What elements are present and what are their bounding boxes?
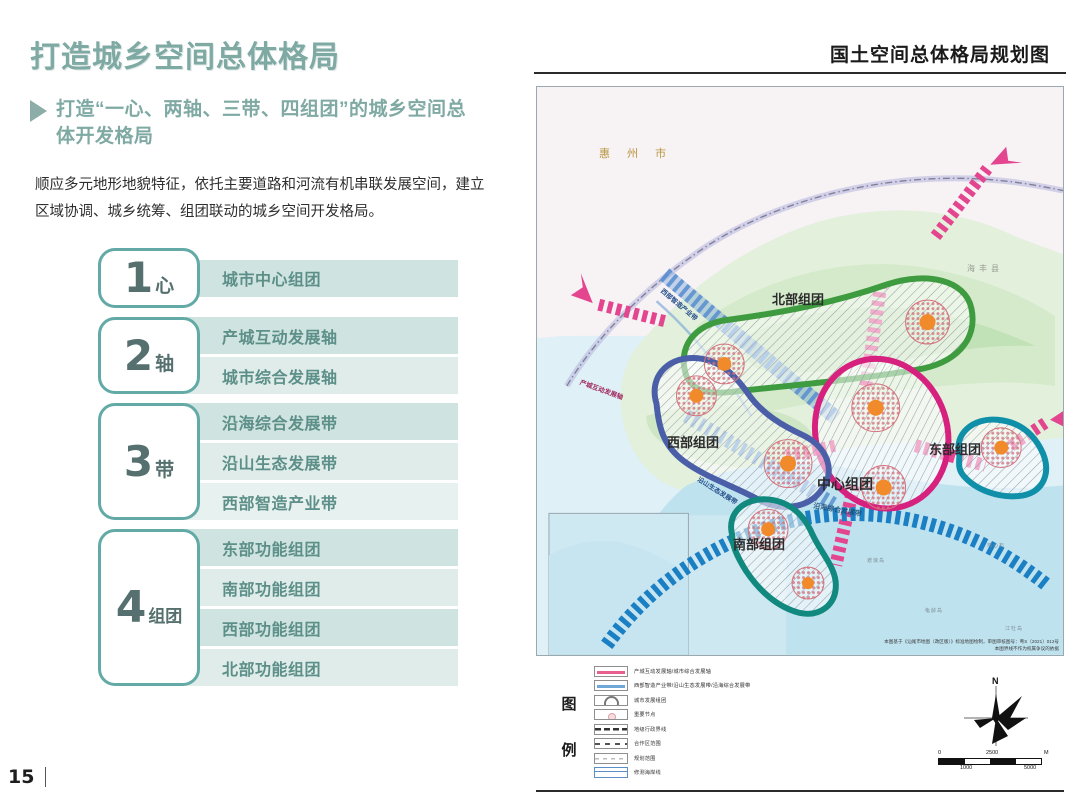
legend-item: 西部智造产业带/沿山生态发展带/沿海综合发展带 — [594, 679, 750, 694]
group-item: 2 轴 产城互动发展轴 城市综合发展轴 — [98, 317, 458, 394]
group-item: 4 组团 东部功能组团 南部功能组团 西部功能组团 北部功能组团 — [98, 529, 458, 686]
group-badge: 4 组团 — [98, 529, 200, 686]
bottom-divider — [536, 790, 1064, 792]
list-item[interactable]: 沿海综合发展带 — [186, 403, 458, 440]
group-rows: 产城互动发展轴 城市综合发展轴 — [186, 317, 458, 394]
legend-swatch-coop-zone-icon — [594, 738, 628, 749]
legend-swatch-plan-extent-icon — [594, 753, 628, 764]
list-item[interactable]: 城市中心组团 — [186, 260, 458, 297]
group-badge: 2 轴 — [98, 317, 200, 394]
legend-item: 修测海岸线 — [594, 766, 750, 781]
map-cluster-label-west: 西部组团 — [667, 432, 719, 451]
legend-item: 合作区范围 — [594, 737, 750, 752]
compass-and-scale: N 0 2500 M 1000 5000 — [936, 674, 1056, 782]
map-islet-label: 江牡岛 — [1005, 625, 1023, 632]
badge-number: 2 — [124, 335, 153, 377]
legend-item: 产城互动发展轴/城市综合发展轴 — [594, 664, 750, 679]
legend-item: 地级行政界线 — [594, 722, 750, 737]
title-divider — [534, 72, 1066, 74]
north-letter: N — [992, 676, 999, 686]
map-islet-label: 龟龄岛 — [925, 607, 943, 614]
legend-item-list: 产城互动发展轴/城市综合发展轴 西部智造产业带/沿山生态发展带/沿海综合发展带 … — [594, 664, 750, 780]
group-rows: 城市中心组团 — [186, 248, 458, 308]
list-item[interactable]: 北部功能组团 — [186, 649, 458, 686]
list-item[interactable]: 南部功能组团 — [186, 569, 458, 606]
list-item[interactable]: 产城互动发展轴 — [186, 317, 458, 354]
subtitle-block: 打造“一心、两轴、三带、四组团”的城乡空间总体开发格局 — [30, 96, 485, 150]
map-cluster-label-south: 南部组团 — [733, 534, 785, 553]
group-rows: 东部功能组团 南部功能组团 西部功能组团 北部功能组团 — [186, 529, 458, 686]
legend-item: 重要节点 — [594, 708, 750, 723]
group-badge: 3 带 — [98, 403, 200, 520]
badge-number: 4 — [116, 586, 147, 630]
page-title: 打造城乡空间总体格局 — [30, 32, 340, 76]
map-islet-label: 遮浪岛 — [867, 557, 885, 564]
triangle-bullet-icon — [30, 100, 47, 122]
legend-swatch-pink-arrow-icon — [594, 666, 628, 677]
list-item[interactable]: 沿山生态发展带 — [186, 443, 458, 480]
subtitle-text: 打造“一心、两轴、三带、四组团”的城乡空间总体开发格局 — [56, 96, 485, 150]
body-paragraph: 顺应多元地形地貌特征，依托主要道路和河流有机串联发展空间，建立区域协调、城乡统筹… — [35, 172, 490, 226]
map-cluster-label-center: 中心组团 — [817, 474, 873, 494]
legend-item: 规划范围 — [594, 751, 750, 766]
badge-number: 1 — [124, 257, 153, 299]
structure-group-list: 1 心 城市中心组团 2 轴 产城互动发展轴 城市综合发展轴 — [98, 248, 458, 695]
map-disclaimer: 本图基于《汕尾市地图（政区版）》标准地图绘制，审图审核图号：粤S（2021）01… — [884, 638, 1059, 652]
page-root: 打造城乡空间总体格局 打造“一心、两轴、三带、四组团”的城乡空间总体开发格局 顺… — [0, 0, 1080, 810]
map-county-label: 海丰县 — [967, 263, 1003, 274]
map-title: 国土空间总体格局规划图 — [830, 40, 1050, 67]
group-badge: 1 心 — [98, 248, 200, 308]
planning-map[interactable]: 惠 州 市 海丰县 北部组团 中心组团 西部组团 东部组团 南部组团 沿海综合发… — [536, 86, 1064, 656]
page-number: 15 — [8, 766, 46, 788]
list-item[interactable]: 东部功能组团 — [186, 529, 458, 566]
legend-swatch-ring-icon — [594, 695, 628, 706]
legend-swatch-blue-arrow-icon — [594, 680, 628, 691]
legend-item: 城市发展组团 — [594, 693, 750, 708]
badge-number: 3 — [124, 441, 153, 483]
left-content-panel: 打造城乡空间总体格局 打造“一心、两轴、三带、四组团”的城乡空间总体开发格局 顺… — [0, 0, 520, 810]
map-graphic — [537, 87, 1063, 655]
map-islet-label: 鸡心石 — [987, 542, 1005, 549]
badge-unit: 带 — [155, 455, 174, 482]
map-scale-bar: 0 2500 M 1000 5000 — [938, 750, 1054, 773]
map-cluster-label-east: 东部组团 — [929, 439, 981, 458]
group-rows: 沿海综合发展带 沿山生态发展带 西部智造产业带 — [186, 403, 458, 520]
badge-unit: 轴 — [155, 349, 174, 376]
group-item: 1 心 城市中心组团 — [98, 248, 458, 308]
map-city-label: 惠 州 市 — [599, 145, 673, 161]
legend-swatch-admin-boundary-icon — [594, 724, 628, 735]
badge-unit: 组团 — [148, 602, 182, 627]
group-item: 3 带 沿海综合发展带 沿山生态发展带 西部智造产业带 — [98, 403, 458, 520]
legend-swatch-node-icon — [594, 709, 628, 720]
map-cluster-label-north: 北部组团 — [772, 289, 824, 308]
map-panel: 国土空间总体格局规划图 — [520, 0, 1080, 810]
legend-title: 图 例 — [554, 682, 584, 774]
legend-swatch-coastline-icon — [594, 767, 628, 778]
list-item[interactable]: 西部功能组团 — [186, 609, 458, 646]
list-item[interactable]: 城市综合发展轴 — [186, 357, 458, 394]
list-item[interactable]: 西部智造产业带 — [186, 483, 458, 520]
badge-unit: 心 — [155, 271, 174, 298]
